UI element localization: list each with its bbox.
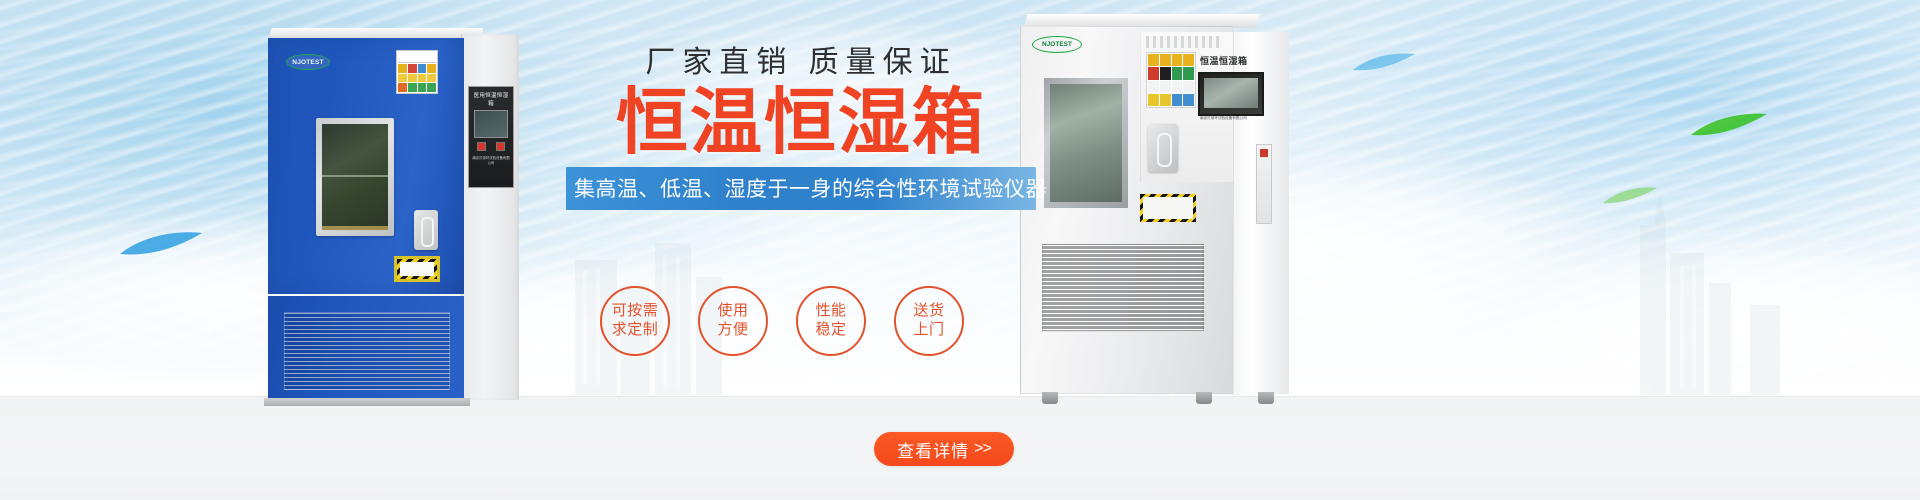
page-title: 恒温恒湿箱 — [566, 85, 1036, 161]
machine-right-side-controls — [1256, 144, 1272, 224]
machine-left-glass — [322, 124, 388, 230]
machine-left-vent-grill — [284, 312, 450, 390]
machine-left-base — [264, 398, 470, 406]
machine-left-display-screen — [474, 110, 508, 138]
machine-right-vent-slots — [1146, 36, 1222, 48]
chevron-right-icon: >> — [974, 440, 991, 458]
badge-line-1: 送货 — [913, 302, 944, 321]
badge-line-1: 可按需 — [612, 302, 659, 321]
badge-easy-to-use[interactable]: 使用 方便 — [698, 286, 768, 356]
badge-custom-made[interactable]: 可按需 求定制 — [600, 286, 670, 356]
machine-left-door-handle — [414, 210, 438, 250]
warning-sticker — [396, 50, 438, 94]
product-banner: NJOTEST 医用恒温恒湿箱 南京贝帝环试验设备有限公司 — [0, 0, 1920, 500]
view-details-label: 查看详情 — [897, 437, 969, 462]
machine-left-indicator-run — [477, 142, 486, 151]
machine-right-display-screen — [1198, 72, 1264, 116]
badge-line-2: 上门 — [913, 321, 944, 340]
machine-right-logo: NJOTEST — [1032, 36, 1082, 53]
badge-door-delivery[interactable]: 送货 上门 — [894, 286, 964, 356]
badge-stable-performance[interactable]: 性能 稳定 — [796, 286, 866, 356]
machine-left-control-panel: 医用恒温恒湿箱 南京贝帝环试验设备有限公司 — [468, 86, 514, 188]
badge-line-2: 稳定 — [815, 321, 846, 340]
badge-line-1: 使用 — [717, 302, 748, 321]
machine-right-vent-grill — [1042, 244, 1204, 332]
tagline: 厂家直销 质量保证 — [566, 46, 1036, 79]
machine-right-legs — [1026, 392, 1280, 404]
machine-right-door-window — [1044, 78, 1128, 208]
badge-line-1: 性能 — [815, 302, 846, 321]
machine-left-panel-title: 医用恒温恒湿箱 — [472, 91, 510, 107]
warning-sticker — [1146, 52, 1196, 108]
machine-right-panel-footer: 南京贝帝环试验设备有限公司 — [1200, 116, 1247, 121]
machine-left-panel-footer: 南京贝帝环试验设备有限公司 — [472, 155, 510, 165]
machine-left-caution-label — [394, 256, 440, 282]
subtitle: 集高温、低温、湿度于一身的综合性环境试验仪器 — [566, 167, 1036, 210]
badge-line-2: 方便 — [717, 321, 748, 340]
machine-right-panel-title: 恒温恒湿箱 — [1200, 54, 1248, 67]
machine-left-indicator-power — [496, 142, 505, 151]
machine-left-button-row — [472, 142, 510, 151]
machine-left-door-window — [316, 118, 394, 236]
feature-badges: 可按需 求定制 使用 方便 性能 稳定 送货 上门 — [600, 286, 964, 356]
view-details-button[interactable]: 查看详情 >> — [874, 432, 1014, 466]
machine-left-logo: NJOTEST — [286, 54, 330, 70]
machine-left-lower-unit — [268, 296, 464, 400]
machine-right-door-handle — [1148, 124, 1178, 172]
machine-left-body: NJOTEST — [268, 38, 464, 294]
banner-copy: 厂家直销 质量保证 恒温恒湿箱 集高温、低温、湿度于一身的综合性环境试验仪器 — [566, 46, 1036, 210]
machine-right-glass — [1050, 84, 1122, 202]
product-image-left: NJOTEST 医用恒温恒湿箱 南京贝帝环试验设备有限公司 — [268, 28, 518, 400]
machine-right-caution-label — [1140, 194, 1196, 222]
badge-line-2: 求定制 — [612, 321, 659, 340]
product-image-right: NJOTEST 恒温恒湿箱 南京贝帝环试验设备有限公司 — [1020, 14, 1288, 404]
